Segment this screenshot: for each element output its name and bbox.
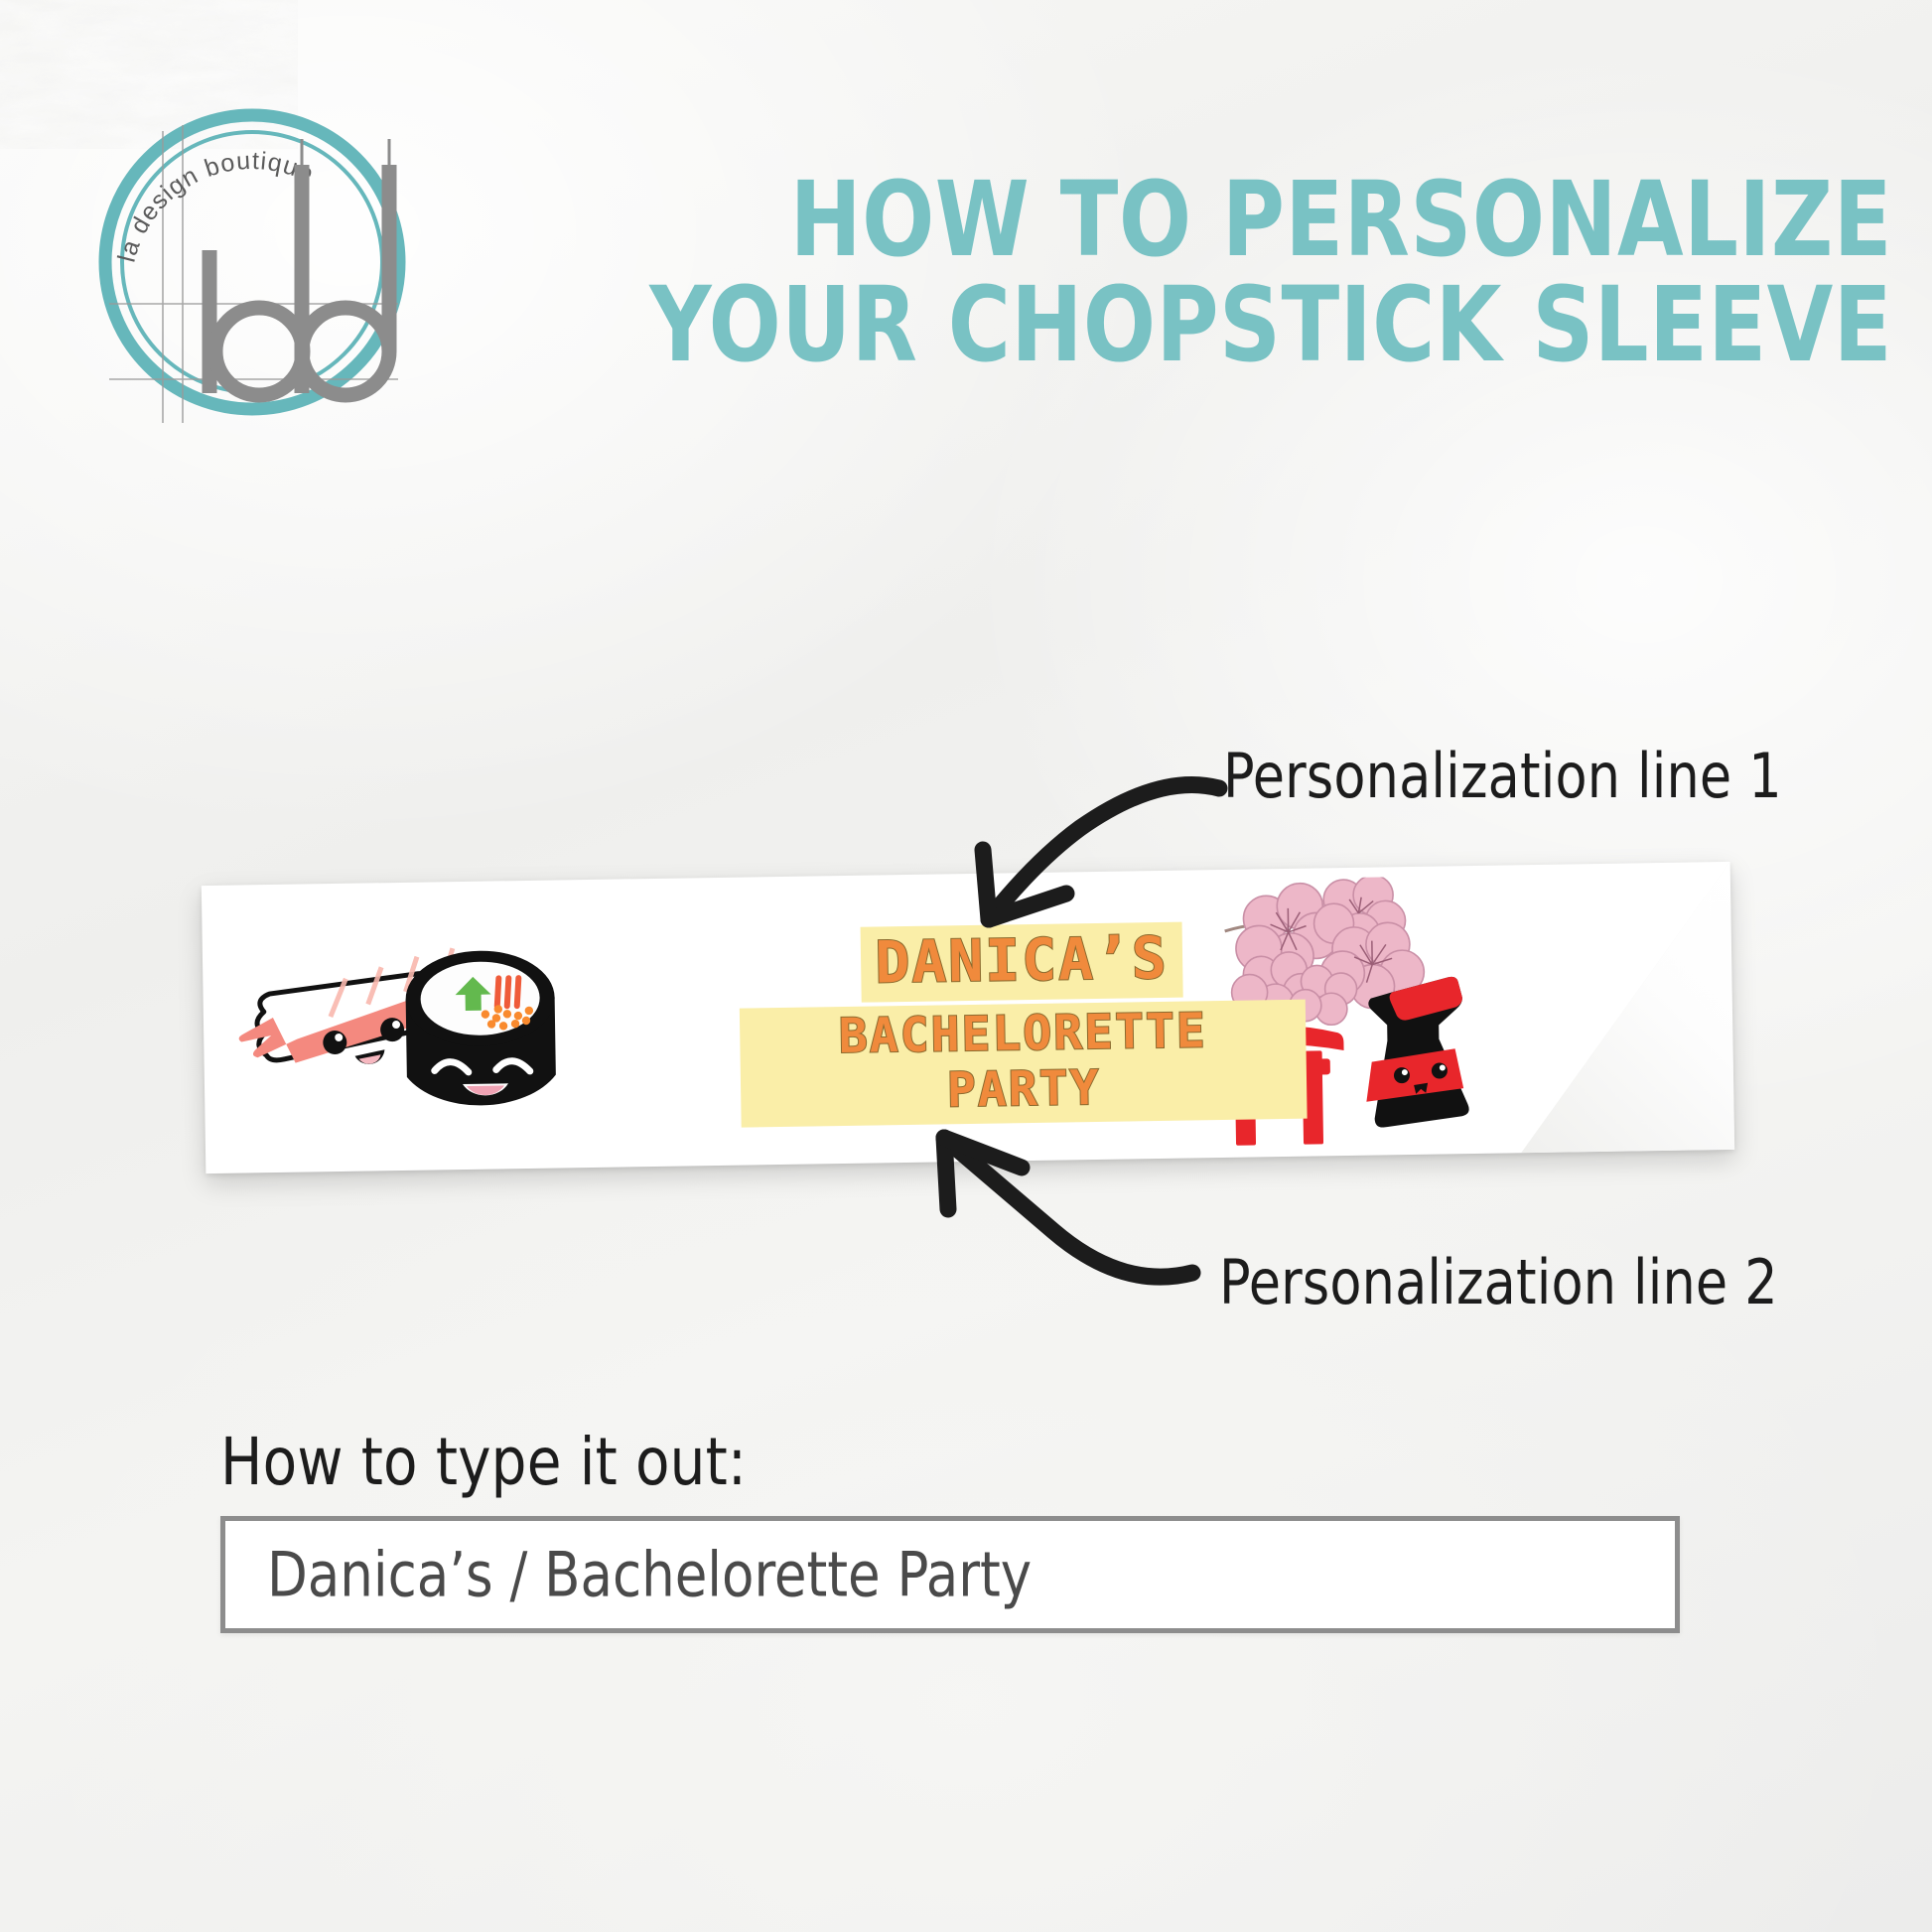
maki-roll-icon (405, 950, 556, 1107)
personalization-input-value: Danica’s / Bachelorette Party (267, 1539, 1032, 1611)
soy-sauce-bottle-icon (1364, 977, 1468, 1128)
highlight-bar-line-2: BACHELORETTE PARTY (740, 1000, 1308, 1128)
callout-label-line-1: Personalization line 1 (1223, 740, 1782, 812)
personalization-input[interactable]: Danica’s / Bachelorette Party (220, 1516, 1680, 1633)
page-title-line-1: HOW TO PERSONALIZE (596, 167, 1892, 272)
page-title-line-2: YOUR CHOPSTICK SLEEVE (596, 272, 1892, 377)
brand-logo: la design boutique (85, 95, 419, 429)
personalization-line-2-text: BACHELORETTE PARTY (838, 1003, 1207, 1118)
personalization-line-2: BACHELORETTE PARTY (740, 1000, 1308, 1132)
callout-label-line-2: Personalization line 2 (1219, 1246, 1778, 1318)
page-title: HOW TO PERSONALIZE YOUR CHOPSTICK SLEEVE (596, 167, 1892, 377)
sushi-artwork-group (209, 901, 571, 1156)
personalization-text-block: DANICA’S BACHELORETTE PARTY (739, 920, 1308, 1132)
salmon-strips (496, 978, 518, 1006)
callout-arrow-line-1 (933, 747, 1231, 945)
how-to-type-label: How to type it out: (220, 1424, 747, 1500)
callout-arrow-line-2 (918, 1122, 1236, 1330)
